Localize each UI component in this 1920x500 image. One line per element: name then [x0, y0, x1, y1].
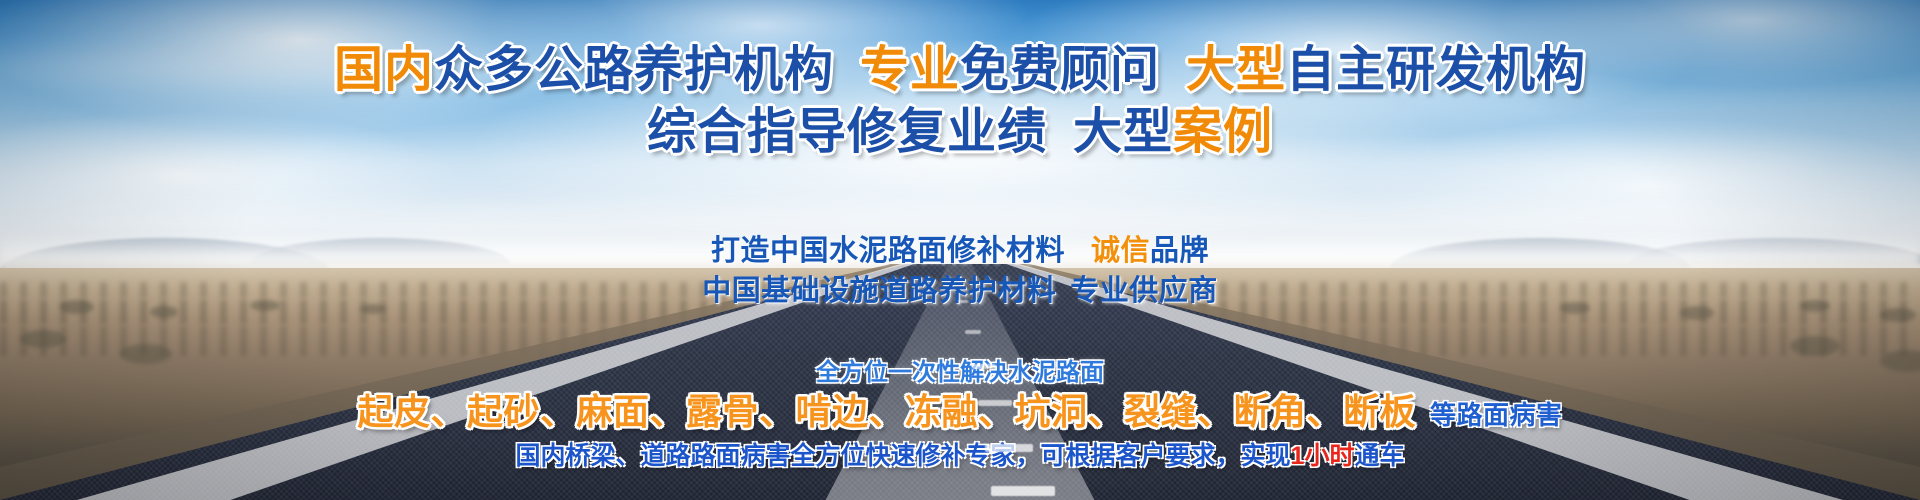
- subheadline1-seg-1: 打造中国水泥路面修补材料: [711, 235, 1065, 267]
- road-dash-marking: [978, 400, 1012, 406]
- closing-seg-3: 通车: [1354, 442, 1404, 470]
- headline-line-1: 国内众多公路养护机构专业免费顾问大型自主研发机构: [0, 42, 1920, 98]
- bottom-closing-line: 国内桥梁、道路路面病害全方位快速修补专家，可根据客户要求，实现1小时通车: [0, 440, 1920, 472]
- promotional-banner: 国内众多公路养护机构专业免费顾问大型自主研发机构 综合指导修复业绩大型案例 打造…: [0, 0, 1920, 500]
- subheadline1-seg-3: 品牌: [1150, 235, 1209, 267]
- closing-seg-1: 国内桥梁、道路路面病害全方位快速修补专家，可根据客户要求，实现: [516, 442, 1291, 470]
- headline-seg-3: 专业: [860, 43, 960, 97]
- road-dash-marking: [972, 364, 996, 369]
- headline-seg-2: 众多公路养护机构: [434, 43, 834, 97]
- road-dash-marking: [965, 330, 981, 334]
- headline-seg-4: 免费顾问: [960, 43, 1160, 97]
- headline-seg-1: 国内: [334, 43, 434, 97]
- headline2-seg-2: 大型: [1073, 105, 1173, 159]
- headline-seg-6: 自主研发机构: [1286, 43, 1586, 97]
- road-dash-marking: [991, 486, 1055, 496]
- bottom-lead-text: 全方位一次性解决水泥路面: [0, 358, 1920, 388]
- headline2-seg-1: 综合指导修复业绩: [647, 105, 1047, 159]
- subheadline2-seg-2: 专业供应商: [1070, 275, 1218, 307]
- bottom-disease-list: 起皮、起砂、麻面、露骨、啃边、冻融、坑洞、裂缝、断角、断板等路面病害: [0, 390, 1920, 437]
- headline-line-2: 综合指导修复业绩大型案例: [0, 104, 1920, 160]
- closing-highlight-1hour: 1小时: [1291, 442, 1355, 470]
- subheadline2-seg-1: 中国基础设施道路养护材料: [702, 275, 1056, 307]
- disease-list-orange: 起皮、起砂、麻面、露骨、啃边、冻融、坑洞、裂缝、断角、断板: [357, 391, 1416, 432]
- subheadline-line-1: 打造中国水泥路面修补材料诚信品牌: [0, 232, 1920, 270]
- headline2-seg-3: 案例: [1173, 105, 1273, 159]
- disease-list-suffix: 等路面病害: [1430, 400, 1563, 430]
- subheadline-line-2: 中国基础设施道路养护材料专业供应商: [0, 272, 1920, 310]
- headline-seg-5: 大型: [1186, 43, 1286, 97]
- road-dash-marking: [985, 444, 1033, 452]
- subheadline1-seg-2: 诚信: [1091, 235, 1150, 267]
- road-dash-marking: [958, 300, 968, 303]
- banner-content: 国内众多公路养护机构专业免费顾问大型自主研发机构 综合指导修复业绩大型案例 打造…: [0, 0, 1920, 500]
